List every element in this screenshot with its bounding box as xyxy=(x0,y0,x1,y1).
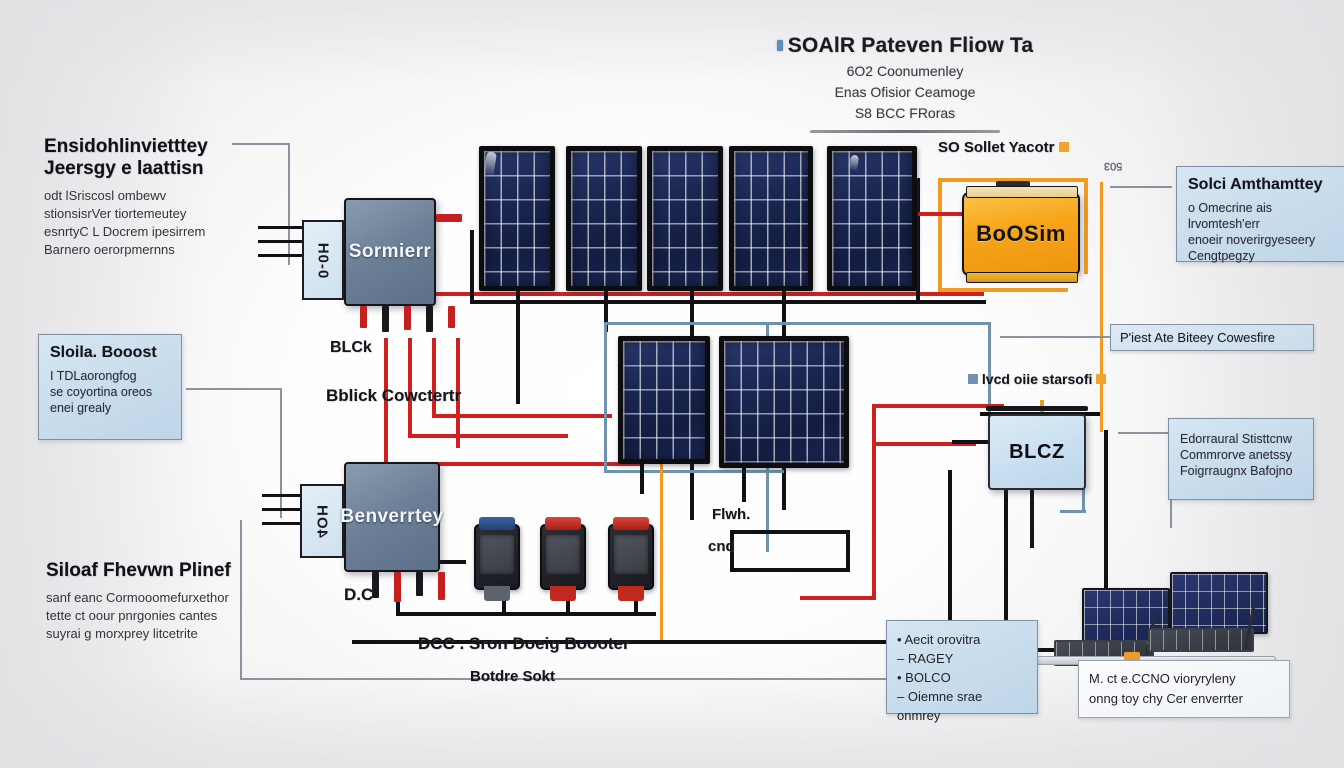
bullet-item-3: – Oiemne srae xyxy=(897,687,1027,706)
solar-panel-top-4 xyxy=(729,146,813,291)
leader-bar-battery xyxy=(1000,336,1112,338)
orange-drop-mid xyxy=(660,440,663,640)
blue-loop-top xyxy=(604,322,990,325)
title-marker-icon xyxy=(777,40,783,51)
module-foot xyxy=(550,586,575,601)
marker-orange-icon-2 xyxy=(1096,374,1106,384)
inverter-bottom-side-label: 4OH xyxy=(314,504,331,538)
device-inverter-bottom[interactable]: Benverrtey xyxy=(344,462,440,572)
callout-right-mid-line-0: Edorraural Stisttcnw xyxy=(1180,431,1302,447)
callout-right-top: Solci Amthamttey o Omecrine ais lrvomtes… xyxy=(1176,166,1344,262)
blk-left-feed-2 xyxy=(258,240,304,243)
terminal-top-5 xyxy=(448,306,455,328)
red-bus-mid-v xyxy=(872,404,876,600)
callout-heading-line2: Jeersgy e laattisn xyxy=(44,158,244,180)
module-3[interactable] xyxy=(608,524,654,590)
red-feed-c xyxy=(432,338,436,418)
solar-panel-top-1 xyxy=(479,146,555,291)
panel-glass xyxy=(571,151,637,286)
terminal-top-3 xyxy=(404,306,411,330)
label-bottre-sokt: Botdre Sokt xyxy=(470,668,555,685)
callout-right-top-line-2: Cengtpegzy xyxy=(1188,248,1344,264)
label-dc-step-booster: DCC . Sron Doeig Boooter xyxy=(418,634,630,654)
caption-bottom-right: M. ct e.CCNO vioryryleny onng toy chy Ce… xyxy=(1078,660,1290,718)
callout-left-boost-line-1: se coyortina oreos xyxy=(50,384,170,400)
solar-panel-top-2 xyxy=(566,146,642,291)
drop-panel-1 xyxy=(516,280,520,404)
bullet-item-3-text: Oiemne srae xyxy=(908,689,982,704)
callout-bottom-left-line-2: suyrai g morxprey litcetrite xyxy=(46,625,256,643)
device-inverter-bottom-label: Benverrtey xyxy=(340,506,443,528)
mini-solar-panel-2 xyxy=(1170,572,1268,634)
riser-panel-left xyxy=(470,230,474,302)
device-battery-amber[interactable]: BoOSim xyxy=(962,192,1080,276)
bullet-item-1-text: RAGEY xyxy=(908,651,954,666)
leader-right-top xyxy=(1110,186,1172,188)
label-battery-converter: P'iest Ate Biteey Cowesfire xyxy=(1110,324,1314,351)
blk-left-feed-1 xyxy=(258,226,304,229)
callout-top-left-line-0: odt lSriscosl ombewv xyxy=(44,187,244,205)
callout-top-left: Ensidohlinvietttey Jeersgy e laattisn od… xyxy=(44,136,244,259)
callout-top-left-line-2: esnrtyC L Docrem ipesirrem xyxy=(44,223,244,241)
mini-panel-face xyxy=(1170,572,1268,634)
mini-panel-base xyxy=(1148,628,1254,652)
frame-line-bottom xyxy=(240,678,940,680)
blk-rect-cnd-top xyxy=(730,530,850,534)
blk-blcz-left xyxy=(952,440,988,444)
terminal-top-1 xyxy=(360,306,367,328)
module-1[interactable] xyxy=(474,524,520,590)
callout-heading-line1: Ensidohlinvietttey xyxy=(44,136,244,158)
solar-panel-top-5 xyxy=(827,146,917,291)
label-dc: D.C xyxy=(344,585,373,605)
orange-loop-right xyxy=(1084,178,1088,274)
panel-glass xyxy=(724,341,844,463)
terminal-bot-4 xyxy=(438,572,445,600)
red-bus-mid-h xyxy=(800,596,876,600)
blk-blcz-drop xyxy=(1004,490,1008,640)
title-subline-2: Enas Ofisior Ceamoge xyxy=(760,84,1050,100)
solar-panel-mid-1 xyxy=(618,336,710,464)
callout-right-top-line-1: enoeir noverirgyeseery xyxy=(1188,232,1344,248)
callout-left-boost-line-2: enei grealy xyxy=(50,400,170,416)
terminal-top-2 xyxy=(382,306,389,332)
label-blck: BLCk xyxy=(330,339,372,357)
bus-top-black xyxy=(470,300,986,304)
title-subline-3: S8 BCC FRoras xyxy=(760,105,1050,121)
callout-right-mid-line-1: Commrorve anetssy xyxy=(1180,447,1302,463)
module-screen xyxy=(480,535,514,574)
callout-top-left-heading: Ensidohlinvietttey Jeersgy e laattisn xyxy=(44,136,244,180)
terminal-bot-3 xyxy=(416,572,423,596)
label-fiwh: Flwh. xyxy=(712,506,750,523)
blk-rect-cnd-right xyxy=(846,530,850,572)
blk-rect-cnd-bottom xyxy=(730,568,850,572)
panel-mid-leg-2 xyxy=(742,468,746,502)
module-cap xyxy=(479,517,516,530)
terminal-top-out xyxy=(436,214,462,222)
label-small-number: 503 xyxy=(1104,160,1122,172)
callout-bottom-left-heading: Siloaf Fhevwn Plinef xyxy=(46,560,256,582)
inverter-top-side-label: 0-0H xyxy=(315,242,332,279)
label-wed-starter-text: lvcd oiie starsofi xyxy=(982,371,1092,387)
callout-bottom-left-line-0: sanf eanc Cormooomefurxethor xyxy=(46,589,256,607)
blue-strip-right-h xyxy=(1060,510,1086,513)
leader-right-mid xyxy=(1118,432,1170,434)
caption-bottom-right-line-1: onng toy chy Cer enverrter xyxy=(1089,689,1279,709)
bullet-footer: onmrey xyxy=(897,706,1027,725)
marker-orange-icon xyxy=(1059,142,1069,152)
leader-line-top-left-v xyxy=(288,143,290,265)
blue-loop-bottom xyxy=(604,470,784,473)
page-title: SOAlR Pateven Fliow Ta xyxy=(760,34,1050,58)
device-controller-blcz[interactable]: BLCZ xyxy=(988,414,1086,490)
battery-lid xyxy=(966,186,1078,198)
callout-bottom-left: Siloaf Fhevwn Plinef sanf eanc Cormooome… xyxy=(46,560,256,643)
callout-top-left-line-1: stionsisrVer tiortemeutey xyxy=(44,205,244,223)
device-battery-amber-label: BoOSim xyxy=(976,221,1066,247)
callout-bottom-bullets: • Aecit orovitra – RAGEY • BOLCO – Oiemn… xyxy=(886,620,1038,714)
panel-glass xyxy=(652,151,718,286)
blue-loop-left xyxy=(604,322,607,472)
controller-leg xyxy=(1030,490,1034,548)
title-divider xyxy=(810,130,1000,133)
red-feed-h1 xyxy=(408,434,568,438)
red-feed-h2 xyxy=(432,414,612,418)
orange-loop-bottom xyxy=(938,288,1068,292)
callout-bottom-left-line-1: tette ct oour pnrgonies cantes xyxy=(46,607,256,625)
bullet-item-2: • BOLCO xyxy=(897,668,1027,687)
module-screen xyxy=(614,535,648,574)
orange-drop-right xyxy=(1100,182,1103,432)
diagram-canvas: 0-0H Sormierr 4OH Benverrtey BoOSim BLCZ xyxy=(0,0,1344,768)
callout-right-top-line-0: o Omecrine ais lrvomtesh'err xyxy=(1188,200,1344,232)
blk-left-feed-3 xyxy=(258,254,304,257)
battery-base xyxy=(966,272,1078,283)
panel-glass xyxy=(832,151,912,286)
label-wed-starter: lvcd oiie starsofi xyxy=(968,371,1106,387)
bus-bottom-right-riser xyxy=(948,470,952,644)
marker-blue-icon xyxy=(968,374,978,384)
bullet-item-2-text: BOLCO xyxy=(905,670,951,685)
orange-loop-left xyxy=(938,178,942,292)
diagram-title-block: SOAlR Pateven Fliow Ta 6O2 Coonumenley E… xyxy=(760,34,1050,133)
caption-bottom-right-line-0: M. ct e.CCNO vioryryleny xyxy=(1089,669,1279,689)
solar-panel-mid-2 xyxy=(719,336,849,468)
callout-left-boost: Sloila. Booost I TDLaorongfog se coyorti… xyxy=(38,334,182,440)
inverter-bottom-sidepanel: 4OH xyxy=(300,484,344,558)
label-cnd: cnd xyxy=(708,538,735,555)
callout-right-top-heading: Solci Amthamttey xyxy=(1188,176,1344,194)
terminal-top-4 xyxy=(426,306,433,332)
device-inverter-top[interactable]: Sormierr xyxy=(344,198,436,306)
title-subline-1: 6O2 Coonumenley xyxy=(760,63,1050,79)
blk-mod-bus xyxy=(396,612,656,616)
red-bus-lower xyxy=(876,404,1004,408)
callout-left-boost-heading: Sloila. Booost xyxy=(50,344,170,362)
bus-top-red xyxy=(372,292,984,296)
solar-panel-top-3 xyxy=(647,146,723,291)
bullet-item-0-text: Aecit orovitra xyxy=(904,632,980,647)
terminal-bot-2 xyxy=(394,572,401,602)
module-foot xyxy=(484,586,509,601)
device-controller-blcz-label: BLCZ xyxy=(1009,441,1065,464)
label-black-converter: Bblick Cowctertr xyxy=(326,386,461,406)
callout-right-mid-line-2: Foigrraugnx Bafojno xyxy=(1180,463,1302,479)
callout-left-boost-line-0: I TDLaorongfog xyxy=(50,368,170,384)
callout-top-left-line-3: Barnero oerorpmernns xyxy=(44,241,244,259)
panel-glass xyxy=(734,151,808,286)
leader-line-left-boost xyxy=(186,388,282,390)
device-inverter-top-label: Sormierr xyxy=(349,241,431,263)
panel-mid-leg-1 xyxy=(640,464,644,494)
mini-solar-panel-2-base xyxy=(1148,628,1254,652)
panel-glass xyxy=(484,151,550,286)
module-2[interactable] xyxy=(540,524,586,590)
module-cap xyxy=(545,517,582,530)
module-cap xyxy=(613,517,650,530)
bullet-item-0: • Aecit orovitra xyxy=(897,630,1027,649)
module-foot xyxy=(618,586,643,601)
callout-right-mid: Edorraural Stisttcnw Commrorve anetssy F… xyxy=(1168,418,1314,500)
leader-line-left-boost-v xyxy=(280,388,282,518)
bullet-item-1: – RAGEY xyxy=(897,649,1027,668)
label-solar-factor: SO Sollet Yacotr xyxy=(938,139,1069,156)
module-screen xyxy=(546,535,580,574)
controller-rail xyxy=(986,406,1088,411)
label-solar-factor-text: SO Sollet Yacotr xyxy=(938,139,1054,156)
inverter-top-sidepanel: 0-0H xyxy=(302,220,344,300)
panel-glass xyxy=(623,341,705,459)
